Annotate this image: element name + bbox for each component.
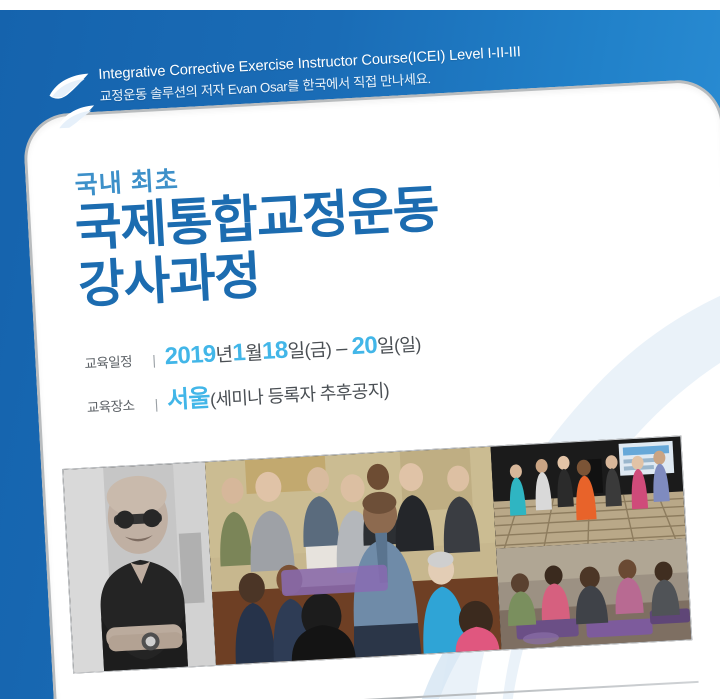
photo-strip bbox=[62, 435, 692, 673]
schedule-day-end: 20 bbox=[351, 332, 378, 360]
schedule-day-start: 18 bbox=[261, 337, 288, 365]
content-card: 국내 최초 국제통합교정운동 강사과정 교육일정 | 2019년1월18일(금)… bbox=[22, 78, 720, 699]
poster-root: 국내 최초 국제통합교정운동 강사과정 교육일정 | 2019년1월18일(금)… bbox=[0, 0, 720, 699]
content-card-wrapper: 국내 최초 국제통합교정운동 강사과정 교육일정 | 2019년1월18일(금)… bbox=[0, 77, 720, 699]
bottom-divider bbox=[103, 681, 698, 699]
schedule-month-unit: 월 bbox=[245, 343, 263, 365]
location-separator: | bbox=[154, 397, 158, 412]
schedule-value: 2019년1월18일(금)–20일(일) bbox=[164, 329, 421, 371]
location-label: 교육장소 bbox=[86, 393, 153, 417]
feather-wings-logo-icon bbox=[44, 71, 95, 130]
photo-column-right bbox=[491, 436, 692, 649]
schedule-day-start-weekday: (금) bbox=[304, 339, 332, 360]
workshop-floor-mat-session bbox=[496, 538, 691, 650]
info-rows: 교육일정 | 2019년1월18일(금)–20일(일) 교육장소 | 서울(세미… bbox=[84, 315, 688, 428]
schedule-label: 교육일정 bbox=[84, 349, 151, 373]
workshop-standing-exercise bbox=[491, 436, 686, 548]
schedule-dash: – bbox=[336, 337, 348, 360]
location-value: 서울(세미나 등록자 추후공지) bbox=[166, 368, 390, 415]
schedule-day-start-unit: 일 bbox=[287, 341, 305, 363]
location-note: (세미나 등록자 추후공지) bbox=[210, 380, 390, 410]
seminar-group-session bbox=[205, 447, 502, 665]
card-content: 국내 최초 국제통합교정운동 강사과정 교육일정 | 2019년1월18일(금)… bbox=[25, 81, 720, 699]
top-white-strip bbox=[0, 0, 720, 10]
schedule-day-end-unit: 일 bbox=[377, 336, 395, 358]
schedule-separator: | bbox=[152, 353, 156, 368]
schedule-year: 2019 bbox=[164, 341, 216, 371]
portrait-evan-osar bbox=[63, 462, 216, 672]
schedule-year-unit: 년 bbox=[215, 345, 233, 367]
schedule-day-end-weekday: (일) bbox=[393, 334, 421, 355]
location-city: 서울 bbox=[166, 385, 210, 414]
page-title: 국제통합교정운동 강사과정 bbox=[74, 180, 443, 314]
